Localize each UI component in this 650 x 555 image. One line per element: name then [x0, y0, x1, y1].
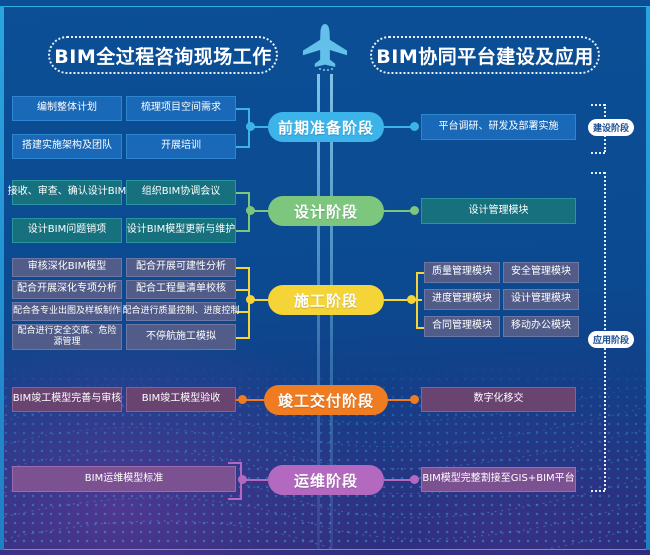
task-box[interactable]: 配合工程量清单校核: [126, 280, 236, 299]
connector-node: [246, 295, 255, 304]
module-box[interactable]: 移动办公模块: [503, 316, 579, 337]
connector-horizontal: [228, 498, 242, 500]
connector-horizontal: [236, 192, 250, 194]
connector-node: [246, 122, 255, 131]
task-box[interactable]: 设计BIM问题销项: [12, 218, 122, 243]
phase-pill-design[interactable]: 设计阶段: [268, 196, 384, 226]
connector-horizontal: [236, 108, 250, 110]
module-box[interactable]: 进度管理模块: [424, 289, 500, 310]
task-box[interactable]: 配合进行质量控制、进度控制: [126, 302, 236, 321]
connector-node: [238, 395, 247, 404]
connector-node: [246, 206, 255, 215]
connector-horizontal: [236, 289, 250, 291]
phase-pill-construction[interactable]: 施工阶段: [268, 285, 384, 315]
header: BIM全过程咨询现场工作 BIM协同平台建设及应用: [0, 36, 650, 80]
connector-horizontal: [236, 267, 250, 269]
module-box[interactable]: 安全管理模块: [503, 262, 579, 283]
task-box[interactable]: 梳理项目空间需求: [126, 96, 236, 121]
left-column-title: BIM全过程咨询现场工作: [48, 36, 278, 74]
module-box[interactable]: BIM模型完整割接至GIS+BIM平台: [421, 467, 576, 492]
task-box[interactable]: BIM竣工模型完善与审核: [12, 387, 122, 412]
connector-node: [410, 206, 419, 215]
module-box[interactable]: 设计管理模块: [503, 289, 579, 310]
connector-node: [407, 295, 416, 304]
phase-pill-delivery[interactable]: 竣工交付阶段: [264, 385, 388, 415]
connector-node: [238, 475, 247, 484]
task-box[interactable]: BIM运维模型标准: [12, 466, 236, 492]
task-box[interactable]: 开展培训: [126, 134, 236, 159]
task-box[interactable]: 不停航施工模拟: [126, 324, 236, 350]
stage-tag-application: 应用阶段: [588, 331, 634, 348]
connector-node: [410, 395, 419, 404]
task-box[interactable]: 设计BIM模型更新与维护: [126, 218, 236, 243]
connector-horizontal: [236, 337, 250, 339]
bim-roadmap-infographic: BIM全过程咨询现场工作 BIM协同平台建设及应用 编制整体计划 梳理项目空间需…: [0, 0, 650, 555]
stage-brace-cap: [591, 104, 605, 106]
connector-horizontal: [228, 462, 242, 464]
connector-horizontal: [236, 146, 250, 148]
task-box[interactable]: 审核深化BIM模型: [12, 258, 122, 277]
stage-brace-cap: [591, 490, 605, 492]
task-box[interactable]: 配合进行安全交底、危险源管理: [12, 324, 122, 350]
connector-node: [410, 475, 419, 484]
right-edge-accent: [646, 6, 650, 550]
right-column-title: BIM协同平台建设及应用: [370, 36, 600, 74]
task-box[interactable]: 编制整体计划: [12, 96, 122, 121]
task-box[interactable]: 搭建实施架构及团队: [12, 134, 122, 159]
module-box[interactable]: 数字化移交: [421, 387, 576, 412]
phase-pill-prep[interactable]: 前期准备阶段: [268, 112, 384, 142]
module-box[interactable]: 平台调研、研发及部署实施: [421, 114, 576, 140]
stage-tag-construction: 建设阶段: [588, 119, 634, 136]
task-box[interactable]: 配合开展深化专项分析: [12, 280, 122, 299]
stage-brace-cap: [591, 172, 605, 174]
module-box[interactable]: 合同管理模块: [424, 316, 500, 337]
task-box[interactable]: 接收、审查、确认设计BIM: [12, 180, 122, 205]
left-edge-accent: [0, 6, 4, 550]
task-box[interactable]: BIM竣工模型验收: [126, 387, 236, 412]
phase-pill-operation[interactable]: 运维阶段: [268, 465, 384, 495]
task-box[interactable]: 配合开展可建性分析: [126, 258, 236, 277]
module-box[interactable]: 设计管理模块: [421, 198, 576, 224]
module-box[interactable]: 质量管理模块: [424, 262, 500, 283]
task-box[interactable]: 配合各专业出图及样板制作: [12, 302, 122, 321]
task-box[interactable]: 组织BIM协调会议: [126, 180, 236, 205]
connector-node: [410, 122, 419, 131]
stage-brace-cap: [591, 152, 605, 154]
connector-horizontal: [236, 230, 250, 232]
